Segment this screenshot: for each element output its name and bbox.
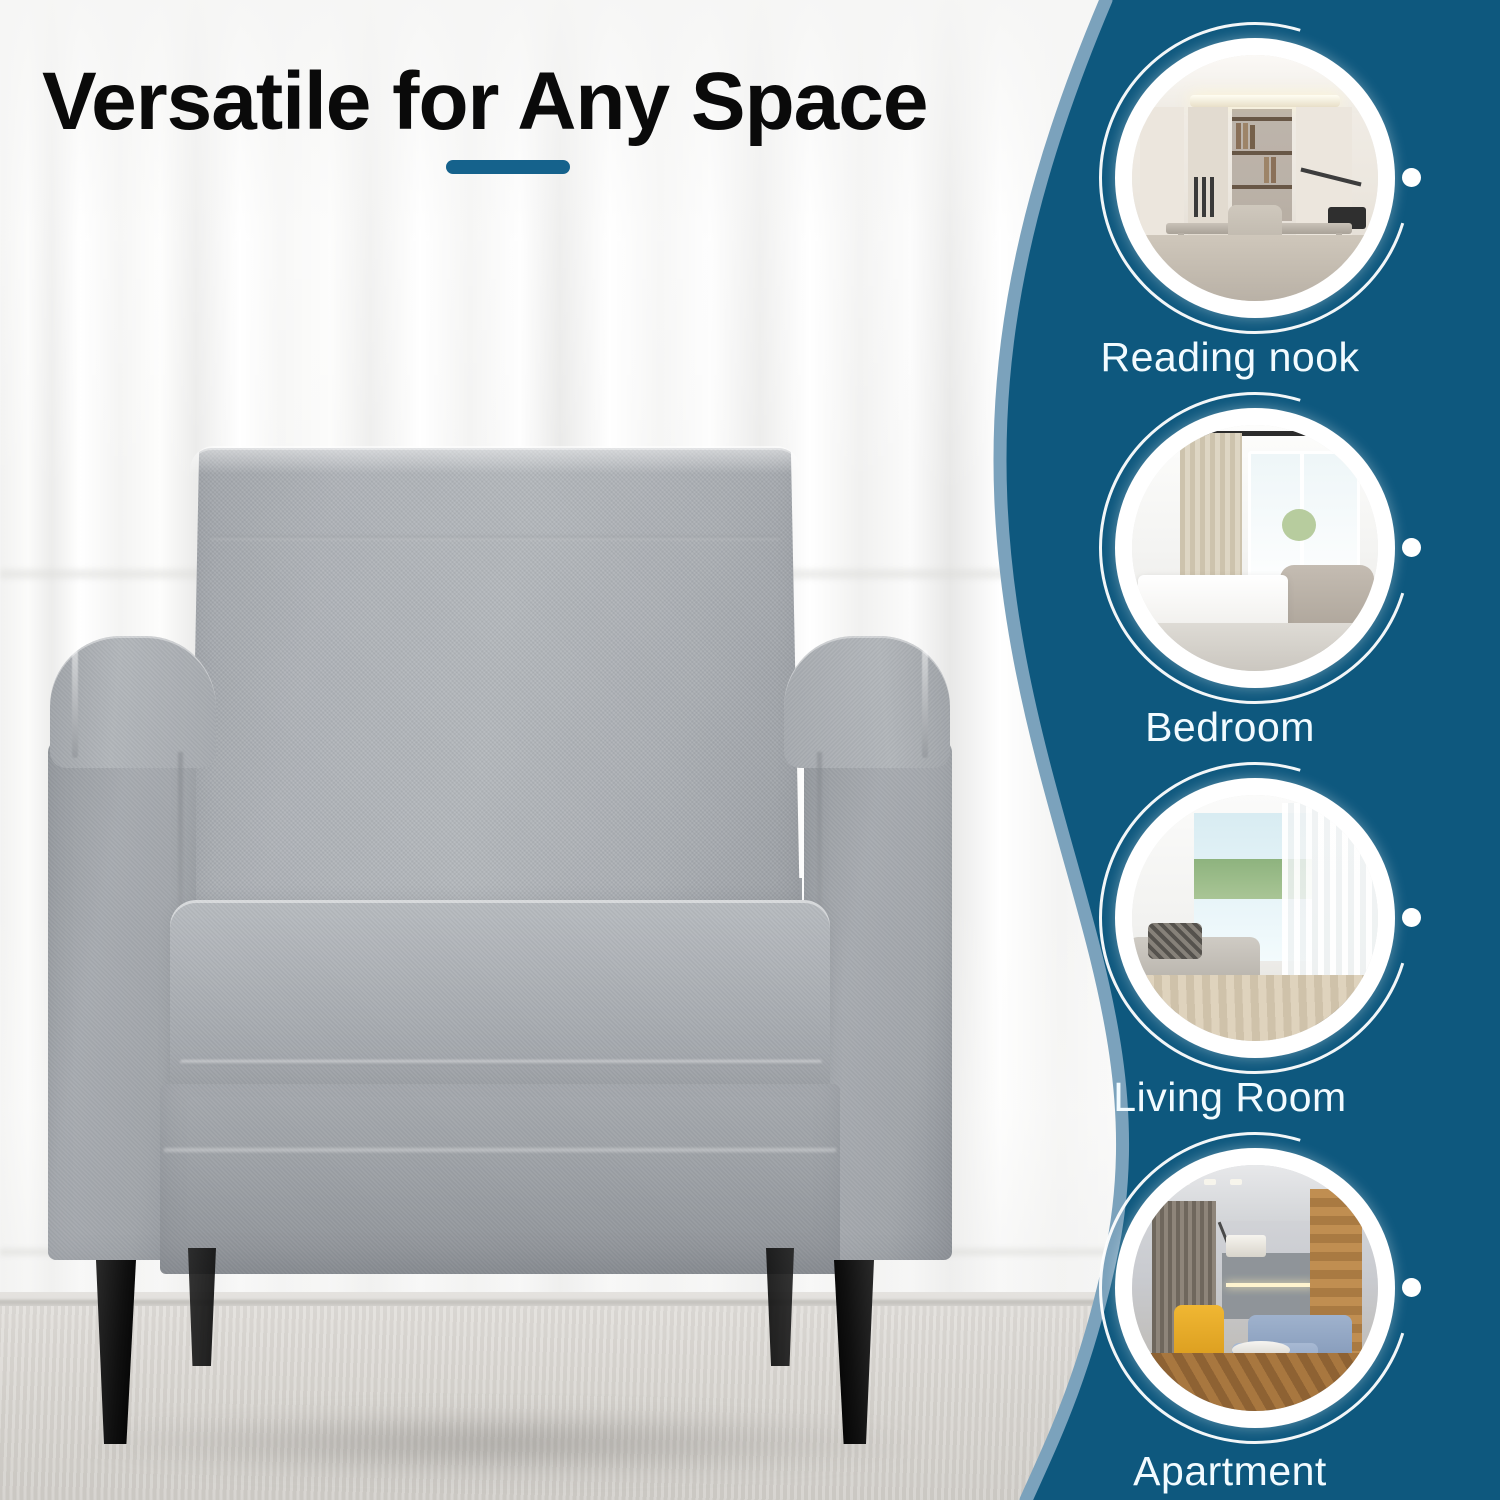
product-photo-scene: Versatile for Any Space <box>0 0 1120 1500</box>
chair-arm-left-piping <box>72 650 78 758</box>
living-room-circle[interactable] <box>1115 778 1395 1058</box>
use-case-label: Living Room <box>960 1074 1500 1121</box>
arc-dot-marker <box>1402 1278 1421 1297</box>
use-case-label: Reading nook <box>960 334 1500 381</box>
photo-ring-frame <box>1115 408 1395 688</box>
chair-base-skirt <box>160 1084 840 1274</box>
chair-base-seam <box>164 1148 836 1152</box>
cat-on-bed <box>1156 553 1194 579</box>
title-accent-bar <box>446 160 570 174</box>
apartment-circle[interactable] <box>1115 1148 1395 1428</box>
chair-leg-back-right <box>766 1248 794 1366</box>
use-case-list: Reading nook <box>960 0 1500 1500</box>
reading-nook-circle[interactable] <box>1115 38 1395 318</box>
chair-back-cushion <box>190 448 800 918</box>
chair-drop-shadow <box>70 1408 930 1478</box>
bedroom-circle[interactable] <box>1115 408 1395 688</box>
scene-living-room <box>1132 795 1378 1041</box>
chair-seat-seam <box>180 1060 822 1065</box>
photo-ring-frame <box>1115 1148 1395 1428</box>
page-title: Versatile for Any Space <box>42 58 1052 147</box>
scene-apartment <box>1132 1165 1378 1411</box>
chair-leg-back-left <box>188 1248 216 1366</box>
photo-ring-frame <box>1115 38 1395 318</box>
chair-arm-right-piping <box>922 650 928 758</box>
use-case-panel: Reading nook <box>960 0 1500 1500</box>
living-room-photo <box>1132 795 1378 1041</box>
reading-nook-photo <box>1132 55 1378 301</box>
scene-bedroom <box>1132 425 1378 671</box>
arc-dot-marker <box>1402 538 1421 557</box>
bedroom-photo <box>1132 425 1378 671</box>
arc-dot-marker <box>1402 168 1421 187</box>
use-case-label: Bedroom <box>960 704 1500 751</box>
chair-seat-cushion <box>170 900 830 1096</box>
apartment-photo <box>1132 1165 1378 1411</box>
chair-back-crease <box>210 536 780 540</box>
scene-reading-nook <box>1132 55 1378 301</box>
armchair <box>60 448 940 1468</box>
arc-dot-marker <box>1402 908 1421 927</box>
use-case-label: Apartment <box>960 1448 1500 1495</box>
photo-ring-frame <box>1115 778 1395 1058</box>
product-infographic: Versatile for Any Space <box>0 0 1500 1500</box>
